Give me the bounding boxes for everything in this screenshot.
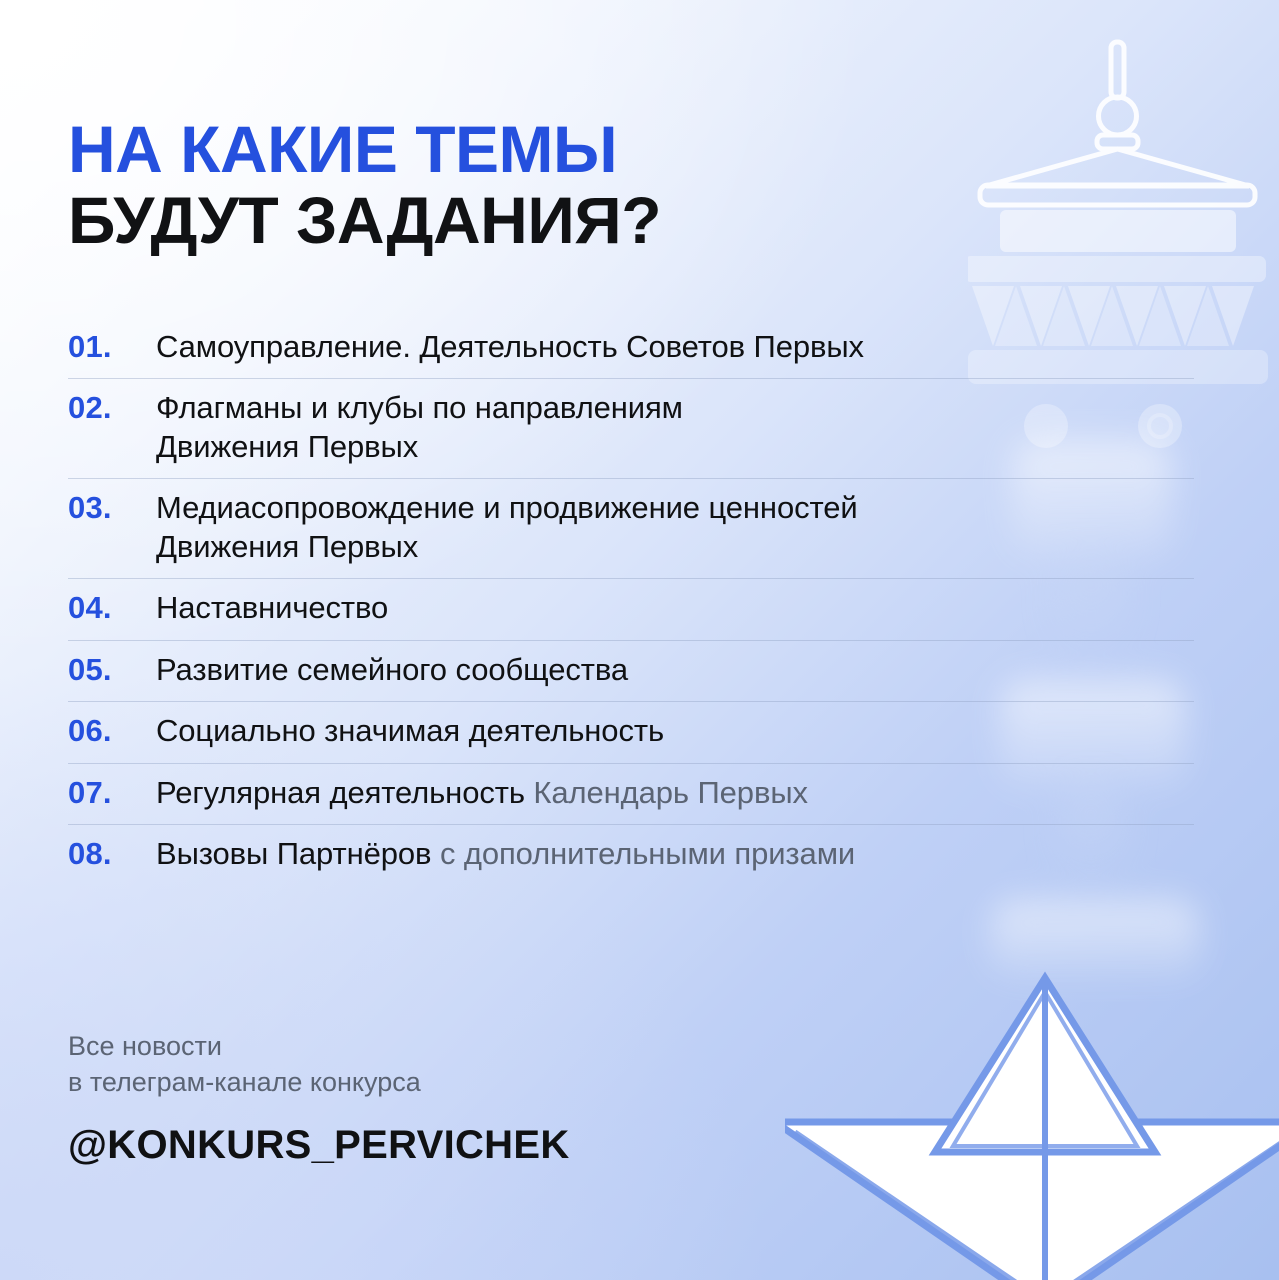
topic-label: Социально значимая деятельность xyxy=(156,712,1194,750)
topic-label-main: Развитие семейного сообщества xyxy=(156,652,628,687)
topic-number: 06. xyxy=(68,712,156,750)
paper-boat-icon xyxy=(785,970,1279,1280)
topic-row: 08.Вызовы Партнёров с дополнительными пр… xyxy=(68,825,1194,885)
footer-note: Все новости в телеграм-канале конкурса xyxy=(68,1028,768,1101)
topic-row: 06.Социально значимая деятельность xyxy=(68,702,1194,763)
topic-label: Наставничество xyxy=(156,589,1194,627)
page-title: НА КАКИЕ ТЕМЫ БУДУТ ЗАДАНИЯ? xyxy=(68,118,1128,251)
topic-row: 03.Медиасопровождение и продвижение ценн… xyxy=(68,479,1194,579)
topic-number: 03. xyxy=(68,489,156,527)
topic-number: 02. xyxy=(68,389,156,427)
topic-number: 04. xyxy=(68,589,156,627)
topic-label-suffix: Календарь Первых xyxy=(533,775,808,810)
topic-label-main: Наставничество xyxy=(156,590,388,625)
topic-label-main: Самоуправление. Деятельность Советов Пер… xyxy=(156,329,864,364)
topic-row: 05.Развитие семейного сообщества xyxy=(68,641,1194,702)
telegram-handle[interactable]: @KONKURS_PERVICHEK xyxy=(68,1123,768,1168)
headline-line-2: БУДУТ ЗАДАНИЯ? xyxy=(68,189,1128,252)
poster-canvas: НА КАКИЕ ТЕМЫ БУДУТ ЗАДАНИЯ? 01.Самоупра… xyxy=(0,0,1279,1280)
topic-number: 01. xyxy=(68,328,156,366)
topic-label-main: Социально значимая деятельность xyxy=(156,713,664,748)
topics-list: 01.Самоуправление. Деятельность Советов … xyxy=(68,318,1194,885)
topic-label: Самоуправление. Деятельность Советов Пер… xyxy=(156,328,1194,366)
topic-number: 08. xyxy=(68,835,156,873)
topic-label: Регулярная деятельность Календарь Первых xyxy=(156,774,1194,812)
topic-number: 07. xyxy=(68,774,156,812)
headline-line-1: НА КАКИЕ ТЕМЫ xyxy=(68,118,1128,181)
topic-label-main: Вызовы Партнёров xyxy=(156,836,431,871)
topic-row: 02.Флагманы и клубы по направлениямДвиже… xyxy=(68,379,1194,479)
topic-label-main: Флагманы и клубы по направлениямДвижения… xyxy=(156,390,683,463)
topic-row: 01.Самоуправление. Деятельность Советов … xyxy=(68,318,1194,379)
topic-number: 05. xyxy=(68,651,156,689)
footer-note-line-2: в телеграм-канале конкурса xyxy=(68,1064,768,1100)
topic-label: Флагманы и клубы по направлениямДвижения… xyxy=(156,389,1194,466)
footer-block: Все новости в телеграм-канале конкурса @… xyxy=(68,1028,768,1168)
topic-label-main: Медиасопровождение и продвижение ценност… xyxy=(156,490,858,563)
topic-label-main: Регулярная деятельность xyxy=(156,775,525,810)
topic-label: Вызовы Партнёров с дополнительными приза… xyxy=(156,835,1194,873)
topic-label-suffix: с дополнительными призами xyxy=(440,836,855,871)
footer-note-line-1: Все новости xyxy=(68,1028,768,1064)
topic-row: 07.Регулярная деятельность Календарь Пер… xyxy=(68,764,1194,825)
topic-row: 04.Наставничество xyxy=(68,579,1194,640)
topic-label: Медиасопровождение и продвижение ценност… xyxy=(156,489,1194,566)
topic-label: Развитие семейного сообщества xyxy=(156,651,1194,689)
